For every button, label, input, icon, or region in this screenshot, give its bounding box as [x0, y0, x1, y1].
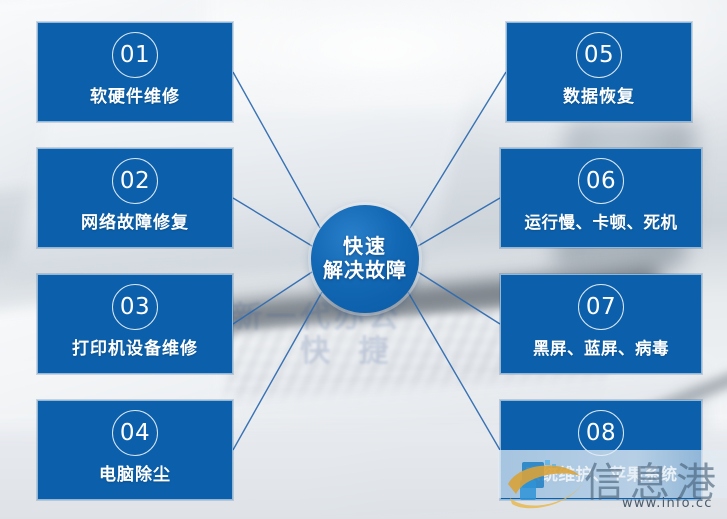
card-number-ring-01: 01 — [112, 32, 158, 78]
card-label-08: 系统维护、苹果系统 — [501, 461, 701, 485]
card-number-06: 06 — [586, 170, 616, 193]
poster-canvas: 新一代办公 快 捷 快速 解决故障 01 软硬件维修 02 网络故障修复 — [0, 0, 727, 519]
connector-line-02 — [233, 198, 312, 246]
card-number-ring-03: 03 — [112, 284, 158, 330]
connector-line-01 — [233, 72, 320, 228]
card-label-06: 运行慢、卡顿、死机 — [501, 209, 701, 233]
card-number-02: 02 — [120, 170, 150, 193]
card-number-03: 03 — [120, 296, 150, 319]
card-number-04: 04 — [120, 422, 150, 445]
connector-line-07 — [418, 272, 500, 324]
card-number-ring-06: 06 — [578, 158, 624, 204]
connector-line-03 — [233, 272, 312, 324]
center-hub-line1: 快速 — [343, 235, 387, 259]
card-label-05: 数据恢复 — [507, 82, 691, 107]
card-number-05: 05 — [584, 44, 614, 67]
service-card-01[interactable]: 01 软硬件维修 — [37, 22, 233, 122]
card-label-04: 电脑除尘 — [38, 460, 232, 485]
card-label-03: 打印机设备维修 — [38, 334, 232, 359]
card-number-01: 01 — [120, 44, 150, 67]
card-label-02: 网络故障修复 — [38, 208, 232, 233]
connector-line-06 — [418, 198, 500, 246]
service-card-05[interactable]: 05 数据恢复 — [506, 22, 692, 122]
service-card-02[interactable]: 02 网络故障修复 — [37, 148, 233, 248]
connector-line-05 — [410, 72, 506, 228]
center-hub: 快速 解决故障 — [311, 205, 419, 313]
card-number-ring-07: 07 — [578, 284, 624, 330]
card-number-ring-02: 02 — [112, 158, 158, 204]
center-hub-line2: 解决故障 — [323, 259, 407, 283]
card-label-07: 黑屏、蓝屏、病毒 — [501, 335, 701, 359]
service-card-08[interactable]: 08 系统维护、苹果系统 — [500, 400, 702, 500]
card-number-ring-08: 08 — [578, 410, 624, 456]
card-number-08: 08 — [586, 422, 616, 445]
service-card-07[interactable]: 07 黑屏、蓝屏、病毒 — [500, 274, 702, 374]
card-number-ring-04: 04 — [112, 410, 158, 456]
service-card-03[interactable]: 03 打印机设备维修 — [37, 274, 233, 374]
service-card-04[interactable]: 04 电脑除尘 — [37, 400, 233, 500]
service-card-06[interactable]: 06 运行慢、卡顿、死机 — [500, 148, 702, 248]
card-number-07: 07 — [586, 296, 616, 319]
card-number-ring-05: 05 — [576, 32, 622, 78]
card-label-01: 软硬件维修 — [38, 82, 232, 107]
